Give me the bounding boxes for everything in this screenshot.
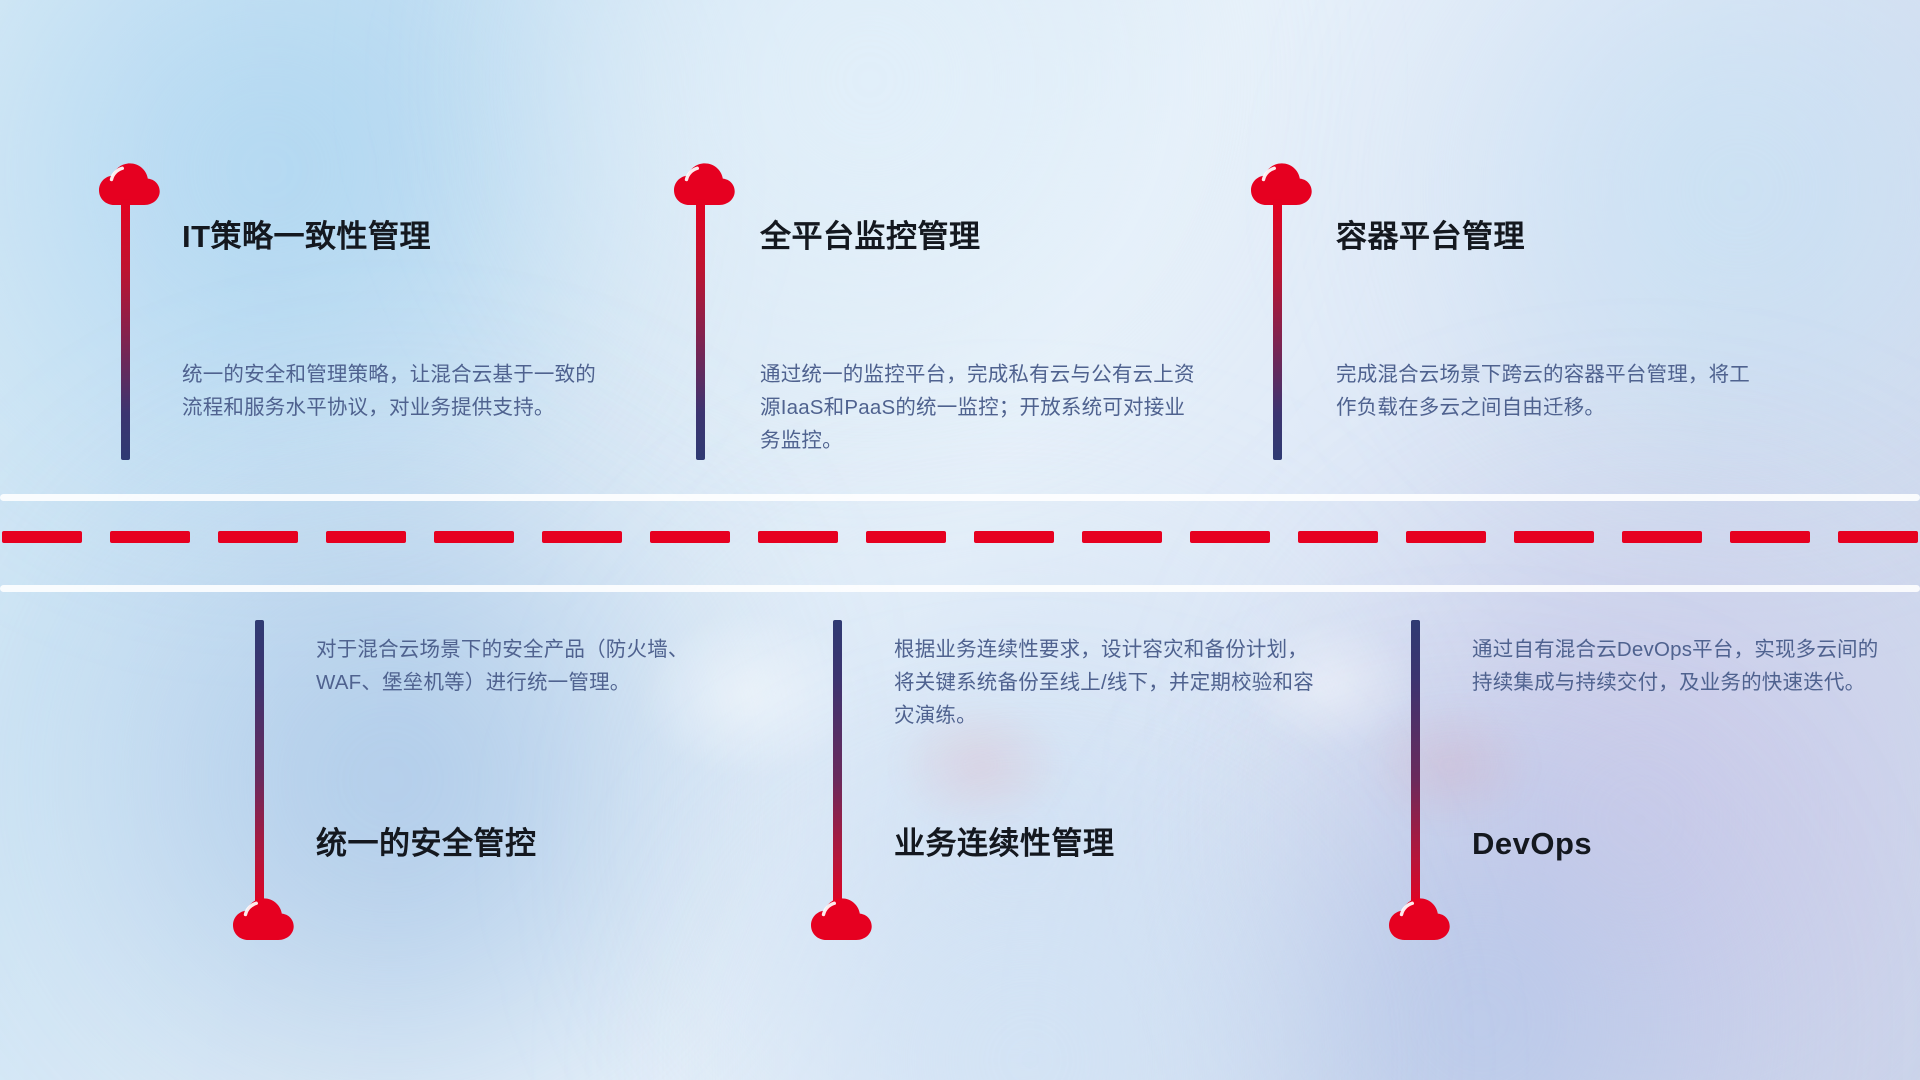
dashed-divider xyxy=(0,485,1920,595)
divider-dash xyxy=(1190,531,1270,543)
connector-stem xyxy=(255,620,264,910)
capability-body: 通过统一的监控平台，完成私有云与公有云上资源IaaS和PaaS的统一监控；开放系… xyxy=(760,358,1200,458)
divider-dash xyxy=(2,531,82,543)
divider-dash xyxy=(1298,531,1378,543)
connector-stem xyxy=(1411,620,1420,910)
divider-rail-bottom xyxy=(0,585,1920,592)
capability-body: 统一的安全和管理策略，让混合云基于一致的流程和服务水平协议，对业务提供支持。 xyxy=(182,358,612,424)
capability-body: 通过自有混合云DevOps平台，实现多云间的持续集成与持续交付，及业务的快速迭代… xyxy=(1472,633,1892,699)
cloud-pin-icon xyxy=(810,895,872,943)
divider-dash xyxy=(434,531,514,543)
cloud-pin-icon xyxy=(232,895,294,943)
divider-dash xyxy=(1082,531,1162,543)
capability-body: 对于混合云场景下的安全产品（防火墙、WAF、堡垒机等）进行统一管理。 xyxy=(316,633,736,699)
capability-heading: 全平台监控管理 xyxy=(760,218,981,255)
divider-dash xyxy=(758,531,838,543)
capability-heading: 统一的安全管控 xyxy=(316,825,537,862)
capability-heading: 容器平台管理 xyxy=(1336,218,1525,255)
divider-dash xyxy=(650,531,730,543)
connector-stem xyxy=(121,198,130,460)
divider-dash-track xyxy=(0,531,1920,543)
infographic-canvas: IT策略一致性管理 统一的安全和管理策略，让混合云基于一致的流程和服务水平协议，… xyxy=(0,0,1920,1080)
divider-dash xyxy=(1838,531,1918,543)
divider-dash xyxy=(974,531,1054,543)
divider-dash xyxy=(326,531,406,543)
connector-stem xyxy=(696,198,705,460)
capability-body: 完成混合云场景下跨云的容器平台管理，将工作负载在多云之间自由迁移。 xyxy=(1336,358,1766,424)
divider-dash xyxy=(1514,531,1594,543)
capability-heading: IT策略一致性管理 xyxy=(182,218,431,255)
connector-stem xyxy=(833,620,842,910)
capability-heading: DevOps xyxy=(1472,825,1592,862)
cloud-pin-icon xyxy=(1388,895,1450,943)
divider-dash xyxy=(1730,531,1810,543)
divider-dash xyxy=(866,531,946,543)
capability-body: 根据业务连续性要求，设计容灾和备份计划，将关键系统备份至线上/线下，并定期校验和… xyxy=(894,633,1314,733)
top-row: IT策略一致性管理 统一的安全和管理策略，让混合云基于一致的流程和服务水平协议，… xyxy=(0,0,1920,485)
divider-dash xyxy=(218,531,298,543)
divider-dash xyxy=(1406,531,1486,543)
bottom-row: 对于混合云场景下的安全产品（防火墙、WAF、堡垒机等）进行统一管理。 统一的安全… xyxy=(0,595,1920,1080)
divider-dash xyxy=(1622,531,1702,543)
capability-heading: 业务连续性管理 xyxy=(894,825,1115,862)
connector-stem xyxy=(1273,198,1282,460)
divider-rail-top xyxy=(0,494,1920,501)
divider-dash xyxy=(542,531,622,543)
divider-dash xyxy=(110,531,190,543)
